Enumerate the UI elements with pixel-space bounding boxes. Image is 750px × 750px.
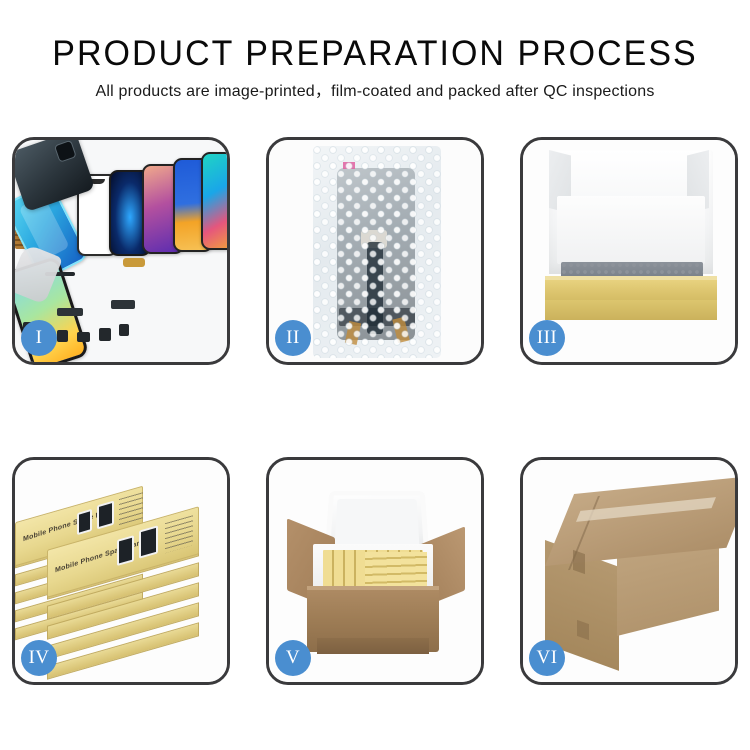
component-chip-icon [77,332,90,342]
page-subtitle: All products are image-printed，film-coat… [0,82,750,102]
step-panel-2[interactable]: II [266,137,484,365]
step-panel-5[interactable]: V [266,457,484,685]
step-panel-4[interactable]: Mobile Phone Spare Parts Mobile Phone Sp… [12,457,230,685]
component-chip-icon [119,324,129,336]
step-panel-1[interactable]: I [12,137,230,365]
component-chip-icon [99,328,111,341]
page-title: PRODUCT PREPARATION PROCESS [11,34,739,74]
product-preparation-infographic: PRODUCT PREPARATION PROCESS All products… [0,0,750,750]
phone-teal-screen-icon [201,152,227,250]
carton-handle-tab-icon [573,550,585,574]
step-panel-6[interactable]: VI [520,457,738,685]
flex-cable-small-icon [111,300,135,309]
process-steps-grid: I II [12,137,738,685]
step-badge-2: II [275,320,311,356]
gold-contact-icon [392,317,409,343]
step-badge-4: IV [21,640,57,676]
bubble-wrap-bag-icon [313,146,441,358]
step-panel-3[interactable]: III [520,137,738,365]
component-chip-icon [57,330,68,342]
step-badge-6: VI [529,640,565,676]
kraft-box-front-icon [545,300,717,320]
wrapped-screen-icon [337,168,415,340]
connector-icon [361,230,387,248]
step-badge-3: III [529,320,565,356]
foam-sheet-icon [557,196,705,264]
gold-contact-icon [345,321,361,345]
pink-tape-icon [343,162,355,169]
step-badge-5: V [275,640,311,676]
carton-base-icon [317,638,429,654]
flex-cable-gold-icon [123,258,145,267]
step-badge-1: I [21,320,57,356]
flex-cable-icon [367,242,383,334]
flex-cable-icon [57,308,83,316]
wrapped-screen-base-icon [339,308,415,326]
header: PRODUCT PREPARATION PROCESS All products… [0,34,750,102]
retail-boxes-inside-icon [365,552,427,590]
